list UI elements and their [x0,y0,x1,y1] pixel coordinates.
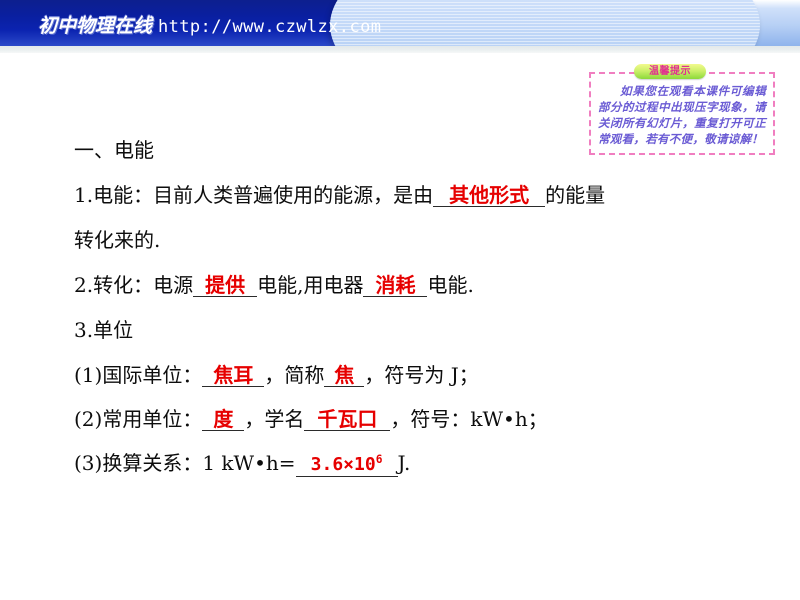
tip-header-pill: 温馨提示 [634,64,706,79]
item3-sub1-answer-1: 焦耳 [202,364,264,387]
tip-header-label: 温馨提示 [649,67,691,77]
item3-sub1-middle: ，简称 [264,363,324,387]
item1-answer: 其他形式 [433,184,545,207]
item3-sub3-answer-base: 3.6×10 [311,454,376,475]
item3-sub1-prefix: (1)国际单位： [74,363,202,387]
banner-branding: 初中物理在线http://www.czwlzx.com [38,11,381,38]
item2-line: 2.转化：电源提供电能,用电器消耗电能. [74,263,764,308]
item3-sub1-answer-2: 焦 [324,364,364,387]
item3-sub2-prefix: (2)常用单位： [74,407,202,431]
item3-sub1-line: (1)国际单位：焦耳，简称焦，符号为 J； [74,353,764,397]
item1-line2: 转化来的. [74,218,764,263]
item2-middle: 电能,用电器 [257,273,363,297]
item3-heading: 3.单位 [74,308,764,353]
item1-suffix: 的能量 [545,183,605,207]
item3-sub3-answer: 3.6×106 [296,449,398,477]
banner-curve-stripes [330,0,760,46]
site-banner: 初中物理在线http://www.czwlzx.com [0,0,800,46]
item2-answer-1: 提供 [193,274,257,297]
item3-sub2-answer-1: 度 [202,408,244,431]
item3-sub2-middle: ，学名 [244,407,304,431]
item2-suffix: 电能. [427,273,473,297]
item3-sub3-prefix: (3)换算关系：1 kW•h= [74,451,296,475]
item3-sub3-line: (3)换算关系：1 kW•h=3.6×106J. [74,441,764,485]
item3-sub2-answer-2: 千瓦口 [304,408,390,431]
banner-underbar [0,46,800,53]
item3-sub2-suffix: ，符号：kW•h； [390,407,547,431]
item3-sub2-line: (2)常用单位：度，学名千瓦口，符号：kW•h； [74,397,764,441]
item2-answer-2: 消耗 [363,274,427,297]
brand-logo-text: 初中物理在线 [38,15,152,37]
brand-url-text: http://www.czwlzx.com [158,17,381,37]
slide-content: 一、电能 1.电能：目前人类普遍使用的能源，是由其他形式的能量 转化来的. 2.… [74,128,764,485]
item3-sub3-answer-exponent: 6 [376,453,383,466]
section-heading: 一、电能 [74,128,764,173]
item2-prefix: 2.转化：电源 [74,273,193,297]
item3-sub1-suffix: ，符号为 J； [364,363,478,387]
item1-prefix: 1.电能：目前人类普遍使用的能源，是由 [74,183,433,207]
item3-sub3-suffix: J. [398,451,411,475]
item1-line1: 1.电能：目前人类普遍使用的能源，是由其他形式的能量 [74,173,764,218]
